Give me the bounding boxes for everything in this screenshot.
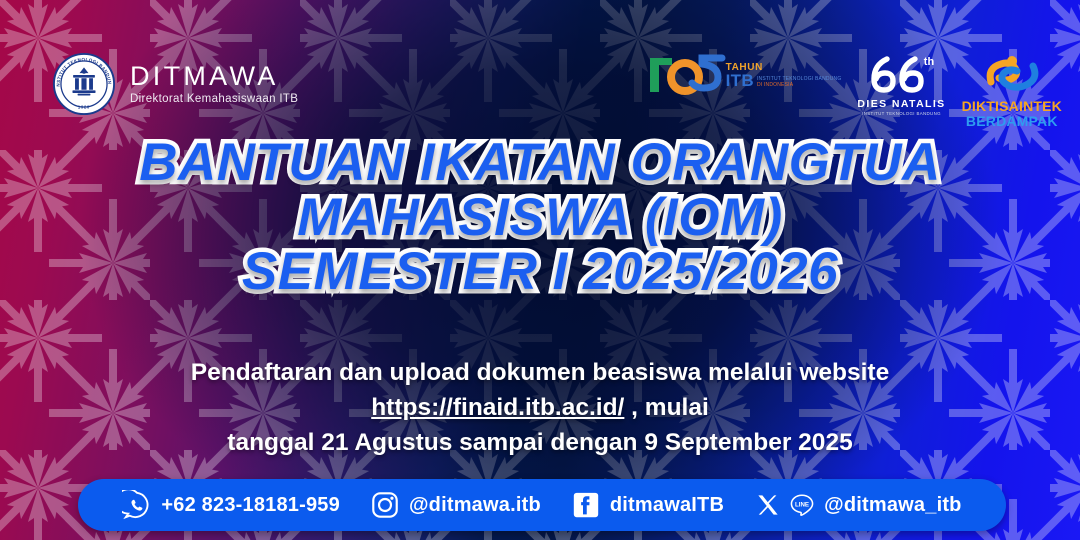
berdampak-label: BERDAMPAK xyxy=(966,114,1058,129)
logo-diktisaintek: DIKTISAINTEK BERDAMPAK xyxy=(962,52,1062,128)
contact-x-line[interactable]: LINE @ditmawa_itb xyxy=(754,491,961,519)
body-line-3: tanggal 21 Agustus sampai dengan 9 Septe… xyxy=(0,426,1080,461)
diktisaintek-mark-icon xyxy=(981,52,1043,96)
x-line-handle: @ditmawa_itb xyxy=(824,494,961,517)
diktisaintek-label: DIKTISAINTEK xyxy=(962,99,1062,114)
headline-line-3: SEMESTER I 2025/2026 xyxy=(0,245,1080,300)
dies-natalis-label: DIES NATALIS xyxy=(857,99,945,110)
contact-whatsapp[interactable]: +62 823-18181-959 xyxy=(122,490,340,520)
description-text: Pendaftaran dan upload dokumen beasiswa … xyxy=(0,356,1080,460)
instagram-handle: @ditmawa.itb xyxy=(409,494,541,517)
headline-line-2: MAHASISWA (IOM) xyxy=(0,191,1080,246)
facebook-handle: ditmawaITB xyxy=(610,494,724,517)
whatsapp-number: +62 823-18181-959 xyxy=(161,494,340,517)
svg-text:1920: 1920 xyxy=(78,104,90,109)
logo-105-fineprint: INSTITUT TEKNOLOGI BANDUNG DI INDONESIA xyxy=(757,76,841,90)
banner-poster: 1920 INSTITUT TEKNOLOGI BANDUNG DITMAWA … xyxy=(0,0,1080,540)
itb-seal-icon: 1920 INSTITUT TEKNOLOGI BANDUNG xyxy=(52,52,116,116)
finaid-url-link[interactable]: https://finaid.itb.ac.id/ xyxy=(371,394,624,421)
headline-line-1: BANTUAN IKATAN ORANGTUA xyxy=(0,136,1080,191)
body-line-2-tail: , mulai xyxy=(624,394,708,421)
instagram-icon xyxy=(370,490,400,520)
svg-text:LINE: LINE xyxy=(795,502,809,509)
line-icon: LINE xyxy=(789,492,815,518)
facebook-icon xyxy=(571,490,601,520)
logo-dies-natalis: th DIES NATALIS INSTITUT TEKNOLOGI BANDU… xyxy=(857,52,945,116)
page-title: BANTUAN IKATAN ORANGTUA MAHASISWA (IOM) … xyxy=(0,136,1080,300)
ditmawa-brand: 1920 INSTITUT TEKNOLOGI BANDUNG DITMAWA … xyxy=(52,52,298,116)
contact-instagram[interactable]: @ditmawa.itb xyxy=(370,490,541,520)
66th-mark-icon: th xyxy=(863,52,941,96)
partner-logos: TAHUN ITB INSTITUT TEKNOLOGI BANDUNG DI … xyxy=(644,52,1062,128)
brand-name: DITMAWA xyxy=(130,63,298,90)
whatsapp-icon xyxy=(122,490,152,520)
brand-subtitle: Direktorat Kemahasiswaan ITB xyxy=(130,94,298,106)
svg-text:th: th xyxy=(923,56,934,68)
body-line-2: https://finaid.itb.ac.id/ , mulai xyxy=(0,391,1080,426)
contact-facebook[interactable]: ditmawaITB xyxy=(571,490,724,520)
x-twitter-icon xyxy=(754,491,782,519)
logo-105-tahun-itb: TAHUN ITB INSTITUT TEKNOLOGI BANDUNG DI … xyxy=(644,52,842,98)
contact-bar: +62 823-18181-959 @ditmawa.itb ditmawaIT… xyxy=(78,479,1006,531)
body-line-1: Pendaftaran dan upload dokumen beasiswa … xyxy=(0,356,1080,391)
105-mark-icon xyxy=(644,52,726,98)
logo-105-itb-label: ITB xyxy=(726,73,754,89)
dies-natalis-sublabel: INSTITUT TEKNOLOGI BANDUNG xyxy=(862,112,941,116)
